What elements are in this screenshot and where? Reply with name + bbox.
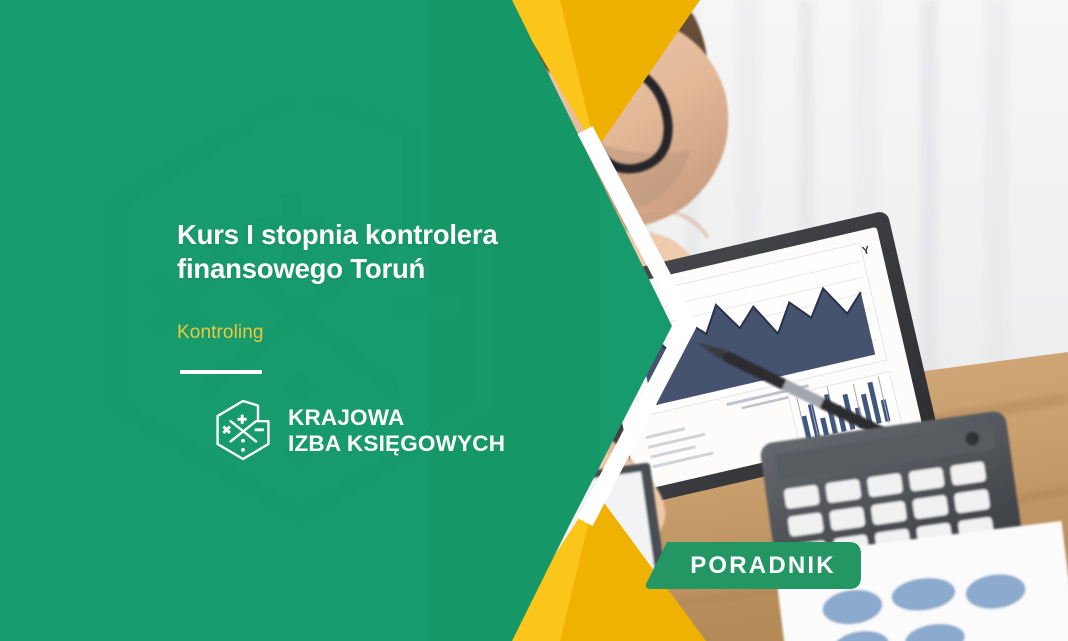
logo-wordmark: KRAJOWA IZBA KSIĘGOWYCH (288, 405, 505, 456)
banner-content: Kurs I stopnia kontrolera finansowego To… (177, 218, 597, 466)
promo-banner: SUMMARY (0, 0, 1068, 641)
logo-line-2: IZBA KSIĘGOWYCH (288, 431, 505, 457)
page-title: Kurs I stopnia kontrolera finansowego To… (177, 218, 597, 286)
badge-label: PORADNIK (643, 542, 861, 589)
category-label: Kontroling (177, 286, 597, 345)
title-divider (180, 370, 262, 374)
krajowa-izba-ksiegowych-logo: KRAJOWA IZBA KSIĘGOWYCH (213, 396, 597, 466)
logo-line-1: KRAJOWA (288, 405, 505, 431)
shield-logo-icon (213, 396, 273, 466)
poradnik-badge[interactable]: PORADNIK (643, 542, 861, 589)
